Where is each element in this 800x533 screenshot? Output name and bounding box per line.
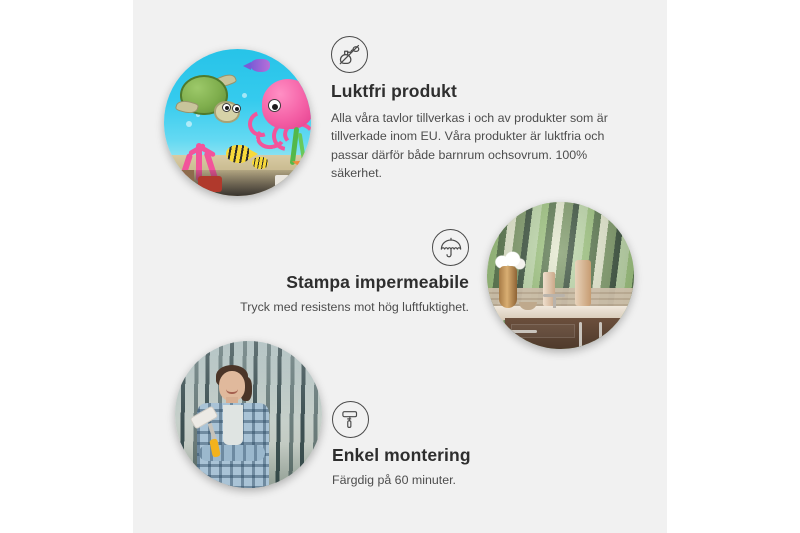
turtle-eye [232,104,241,113]
woman-arms [199,445,265,461]
vase [499,266,517,308]
product-photo-forest-mural [175,341,322,488]
product-feature-panel: Luktfri produkt Alla våra tavlor tillver… [0,0,800,533]
turtle-eye [222,103,231,112]
soap-dispenser [575,260,591,306]
room-foreground-band [164,170,311,196]
purple-fish-icon [250,59,270,72]
bubble-icon [242,93,247,98]
cabinet-handle [579,322,582,348]
vanity-cabinet [505,318,623,349]
product-photo-ocean-mural [164,49,311,196]
faucet [553,294,556,308]
yellow-fish-icon [252,157,268,169]
cabinet-handle [599,322,602,348]
feature-block-easy-mounting: Enkel montering Färgdig på 60 minuter. [332,401,592,489]
feature-title: Enkel montering [332,445,592,467]
no-fragrance-icon [331,36,368,73]
feature-title: Stampa impermeabile [216,272,469,294]
feature-body: Alla våra tavlor tillverkas i och av pro… [331,109,633,182]
yellow-fish-icon [226,145,250,163]
octopus-eye [268,99,281,112]
bathroom-scene [487,202,634,349]
feature-body: Tryck med resistens mot hög luftfuktighe… [216,298,469,316]
product-photo-bathroom-mural [487,202,634,349]
white-tee [223,405,243,445]
umbrella-icon [432,229,469,266]
feature-title: Luktfri produkt [331,81,633,103]
drawer-handle [509,330,537,333]
paint-roller-icon [332,401,369,438]
feature-body: Färgdig på 60 minuter. [332,471,592,489]
feature-block-waterproof: Stampa impermeabile Tryck med resistens … [216,229,469,316]
ocean-scene [164,49,311,196]
forest-scene [175,341,322,488]
bubble-icon [186,121,192,127]
feature-block-odour-free: Luktfri produkt Alla våra tavlor tillver… [331,36,633,182]
